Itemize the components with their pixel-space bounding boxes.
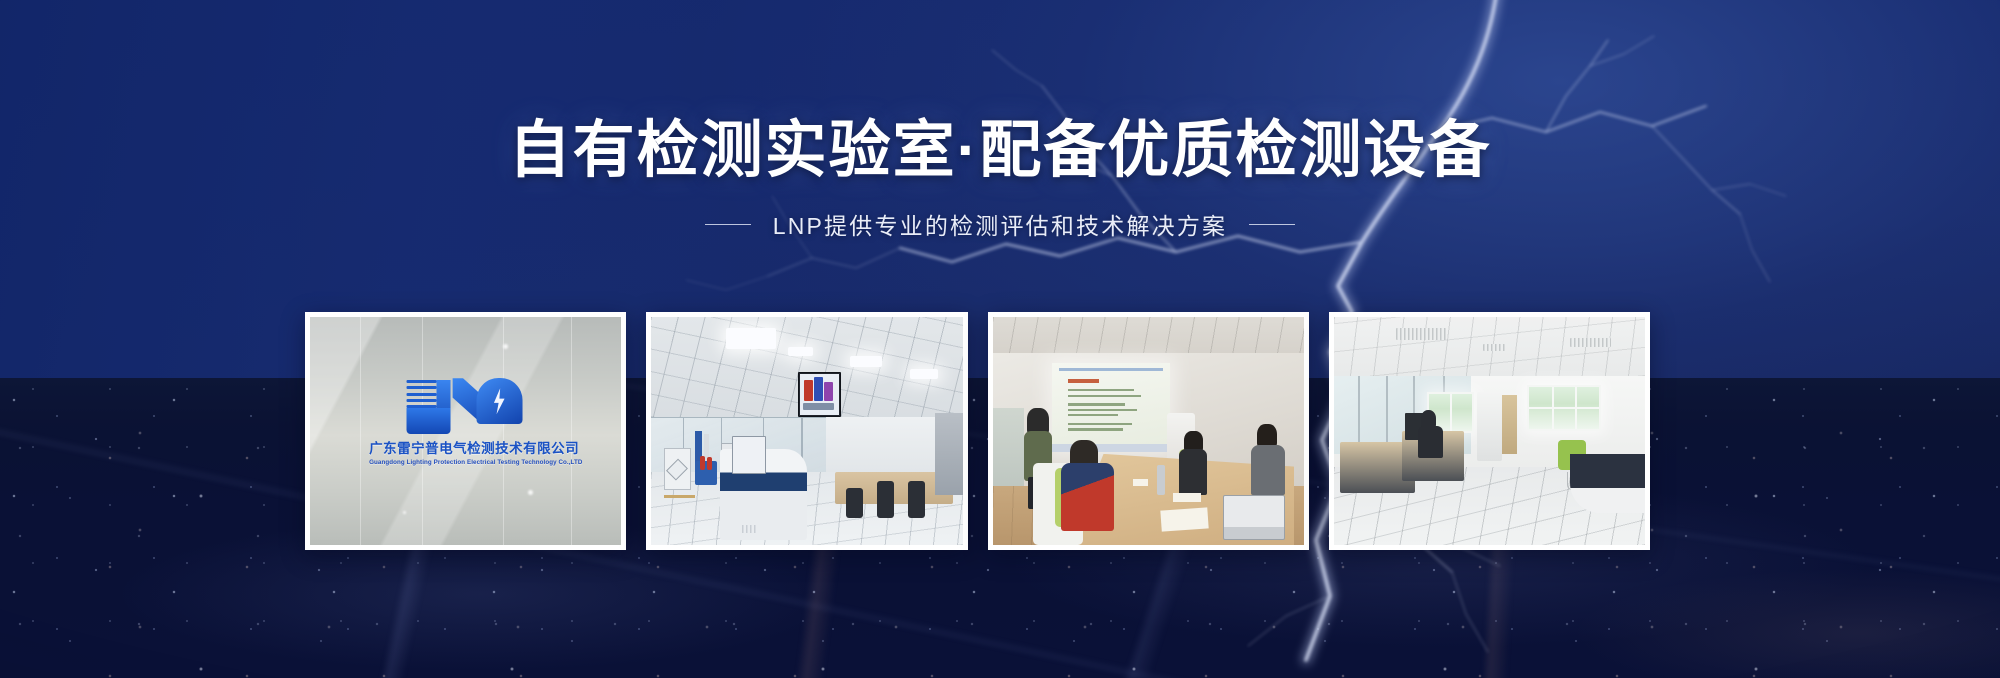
banner-headline: 自有检测实验室·配备优质检测设备 bbox=[0, 118, 2000, 183]
lnp-logo-group: 广东雷宁普电气检测技术有限公司 Guangdong Lighting Prote… bbox=[369, 376, 562, 466]
company-name-chinese: 广东雷宁普电气检测技术有限公司 bbox=[369, 442, 562, 457]
banner-subheadline-row: LNP提供专业的检测评估和技术解决方案 bbox=[0, 207, 2000, 241]
lnp-lightning-logo-icon bbox=[407, 376, 525, 438]
gallery-photo-meeting-room[interactable] bbox=[988, 312, 1309, 550]
banner-text-block: 自有检测实验室·配备优质检测设备 LNP提供专业的检测评估和技术解决方案 bbox=[0, 118, 2000, 241]
laptop-icon bbox=[1223, 495, 1285, 541]
laboratory-photo-content bbox=[651, 317, 962, 545]
gallery-photo-office-area[interactable] bbox=[1329, 312, 1650, 550]
meeting-room-photo-content bbox=[993, 317, 1304, 545]
dash-right-decoration bbox=[1249, 224, 1295, 225]
hero-banner: 自有检测实验室·配备优质检测设备 LNP提供专业的检测评估和技术解决方案 bbox=[0, 0, 2000, 678]
company-name-english: Guangdong Lighting Protection Electrical… bbox=[369, 459, 562, 466]
signage-photo-content: 广东雷宁普电气检测技术有限公司 Guangdong Lighting Prote… bbox=[310, 317, 621, 545]
reception-counter bbox=[1570, 454, 1645, 513]
gallery-photo-testing-laboratory[interactable] bbox=[646, 312, 967, 550]
projector-screen-icon bbox=[1052, 363, 1170, 452]
wall-monitor-icon bbox=[798, 372, 842, 418]
control-desk-monitor-icon bbox=[732, 436, 766, 475]
office-photo-content bbox=[1334, 317, 1645, 545]
dash-left-decoration bbox=[705, 224, 751, 225]
window-right-icon bbox=[1527, 385, 1602, 431]
banner-subheadline: LNP提供专业的检测评估和技术解决方案 bbox=[773, 207, 1228, 241]
gallery-photo-company-signage[interactable]: 广东雷宁普电气检测技术有限公司 Guangdong Lighting Prote… bbox=[305, 312, 626, 550]
photo-gallery-strip: 广东雷宁普电气检测技术有限公司 Guangdong Lighting Prote… bbox=[305, 312, 1650, 550]
